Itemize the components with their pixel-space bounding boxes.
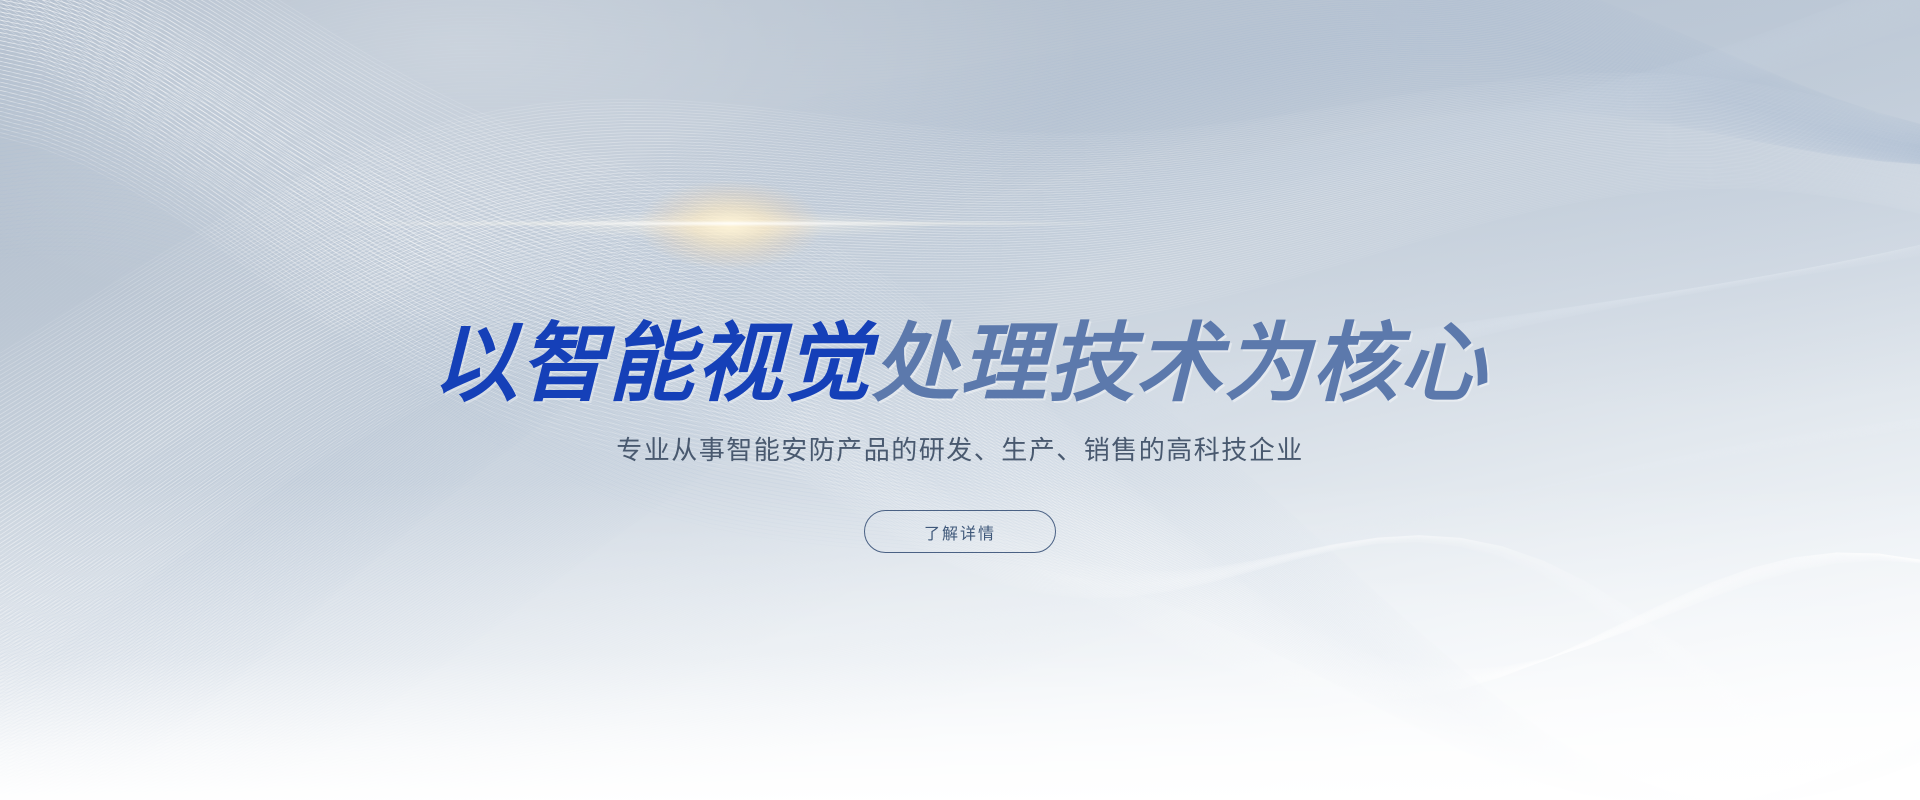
learn-more-button[interactable]: 了解详情 — [864, 510, 1056, 553]
cta-container: 了解详情 — [0, 510, 1920, 553]
headline-segment-strong: 以智能视觉 — [432, 316, 872, 412]
learn-more-button-label: 了解详情 — [924, 520, 996, 544]
page-subtitle: 专业从事智能安防产品的研发、生产、销售的高科技企业 — [0, 430, 1920, 467]
page-title: 以智能视觉处理技术为核心 — [0, 318, 1920, 411]
hero-banner: 以智能视觉处理技术为核心 专业从事智能安防产品的研发、生产、销售的高科技企业 了… — [0, 0, 1920, 800]
headline-segment-muted: 处理技术为核心 — [872, 316, 1488, 412]
hero-content: 以智能视觉处理技术为核心 专业从事智能安防产品的研发、生产、销售的高科技企业 了… — [0, 0, 1920, 800]
